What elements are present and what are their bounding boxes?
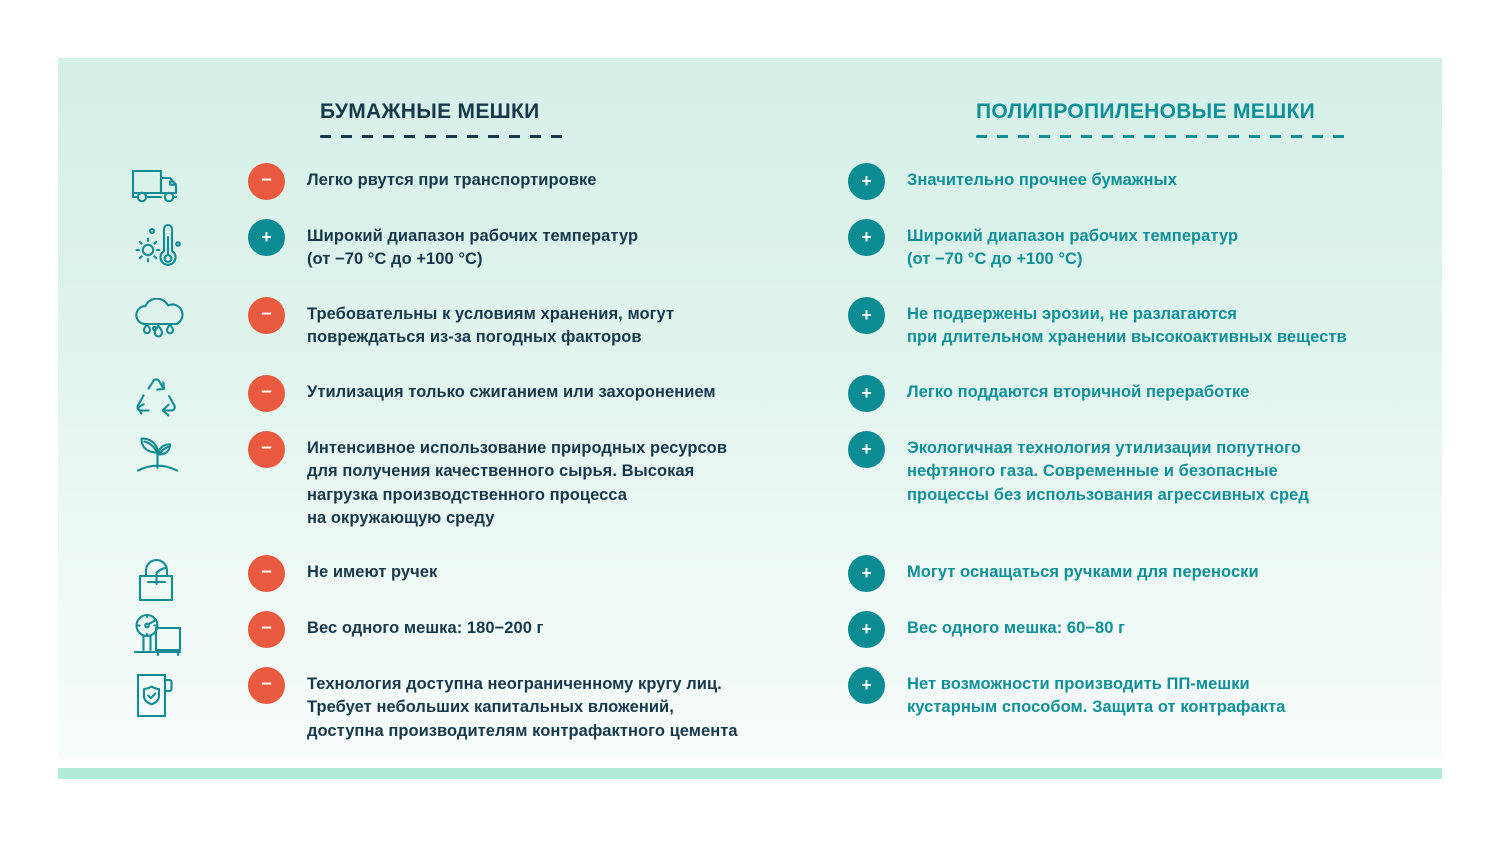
minus-icon: – [261,304,272,323]
comparison-row: –Утилизация только сжиганием или захорон… [130,374,850,424]
row-text: Значительно прочнее бумажных [907,162,1177,192]
comparison-row: +Вес одного мешка: 60−80 г [848,610,1442,648]
plus-badge: + [248,219,285,256]
plus-icon: + [861,228,872,246]
comparison-row: –Не имеют ручек [130,554,850,604]
minus-icon: – [261,562,272,581]
pp-bags-divider [976,135,1350,138]
pp-bags-header: ПОЛИПРОПИЛЕНОВЫЕ МЕШКИ [976,100,1350,138]
row-text: Могут оснащаться ручками для переноски [907,554,1259,584]
row-text: Утилизация только сжиганием или захороне… [307,374,716,404]
plus-icon: + [861,676,872,694]
row-text: Технология доступна неограниченному круг… [307,666,738,743]
paper-bags-title: БУМАЖНЫЕ МЕШКИ [320,100,570,124]
comparison-row: +Нет возможности производить ПП-мешки ку… [848,666,1442,720]
comparison-panel: БУМАЖНЫЕ МЕШКИ –Легко рвутся при транспо… [58,58,1442,758]
plus-badge: + [848,219,885,256]
row-text: Вес одного мешка: 180−200 г [307,610,543,640]
minus-icon: – [261,674,272,693]
plus-badge: + [848,555,885,592]
infographic-canvas: БУМАЖНЫЕ МЕШКИ –Легко рвутся при транспо… [0,0,1500,844]
comparison-row: +Значительно прочнее бумажных [848,162,1442,200]
plus-icon: + [861,172,872,190]
plus-badge: + [848,611,885,648]
comparison-row: +Могут оснащаться ручками для переноски [848,554,1442,592]
comparison-row: +Не подвержены эрозии, не разлагаются пр… [848,296,1442,350]
row-text: Не имеют ручек [307,554,437,584]
row-text: Широкий диапазон рабочих температур (от … [307,218,638,272]
plus-icon: + [861,564,872,582]
comparison-row: –Вес одного мешка: 180−200 г [130,610,850,660]
minus-icon: – [261,438,272,457]
bottom-accent-bar [58,768,1442,779]
row-text: Легко рвутся при транспортировке [307,162,597,192]
bag-shield-icon [130,666,248,720]
comparison-row: +Экологичная технология утилизации попут… [848,430,1442,507]
comparison-row: +Широкий диапазон рабочих температур (от… [848,218,1442,272]
row-text: Требовательны к условиям хранения, могут… [307,296,674,350]
minus-icon: – [261,382,272,401]
plus-badge: + [848,431,885,468]
comparison-row: –Легко рвутся при транспортировке [130,162,850,210]
minus-badge: – [248,297,285,334]
plus-badge: + [848,375,885,412]
plus-icon: + [861,620,872,638]
row-text: Широкий диапазон рабочих температур (от … [907,218,1238,272]
row-text: Экологичная технология утилизации попутн… [907,430,1309,507]
row-text: Нет возможности производить ПП-мешки кус… [907,666,1285,720]
paper-bags-divider [320,135,570,138]
comparison-row: +Широкий диапазон рабочих температур (от… [130,218,850,272]
thermometer-sun-icon [130,218,248,272]
minus-badge: – [248,431,285,468]
column-pp-bags: ПОЛИПРОПИЛЕНОВЫЕ МЕШКИ +Значительно проч… [848,58,1442,758]
column-paper-bags: БУМАЖНЫЕ МЕШКИ –Легко рвутся при транспо… [58,58,858,758]
bag-handle-icon [130,554,248,604]
minus-badge: – [248,555,285,592]
plus-icon: + [861,306,872,324]
plus-icon: + [261,228,272,246]
minus-badge: – [248,611,285,648]
minus-badge: – [248,667,285,704]
minus-badge: – [248,375,285,412]
rain-cloud-icon [130,296,248,342]
comparison-row: –Интенсивное использование природных рес… [130,430,850,531]
weighing-scale-icon [130,610,248,660]
row-text: Интенсивное использование природных ресу… [307,430,727,531]
plus-icon: + [861,440,872,458]
plus-badge: + [848,667,885,704]
comparison-row: –Технология доступна неограниченному кру… [130,666,850,743]
minus-icon: – [261,618,272,637]
plus-badge: + [848,163,885,200]
plus-icon: + [861,384,872,402]
row-text: Вес одного мешка: 60−80 г [907,610,1125,640]
delivery-truck-icon [130,162,248,210]
minus-icon: – [261,170,272,189]
comparison-row: –Требовательны к условиям хранения, могу… [130,296,850,350]
recycle-icon [130,374,248,424]
row-text: Легко поддаются вторичной переработке [907,374,1250,404]
paper-bags-header: БУМАЖНЫЕ МЕШКИ [320,100,570,138]
row-text: Не подвержены эрозии, не разлагаются при… [907,296,1347,350]
minus-badge: – [248,163,285,200]
pp-bags-title: ПОЛИПРОПИЛЕНОВЫЕ МЕШКИ [976,100,1350,124]
plus-badge: + [848,297,885,334]
sprout-icon [130,430,248,482]
comparison-row: +Легко поддаются вторичной переработке [848,374,1442,412]
